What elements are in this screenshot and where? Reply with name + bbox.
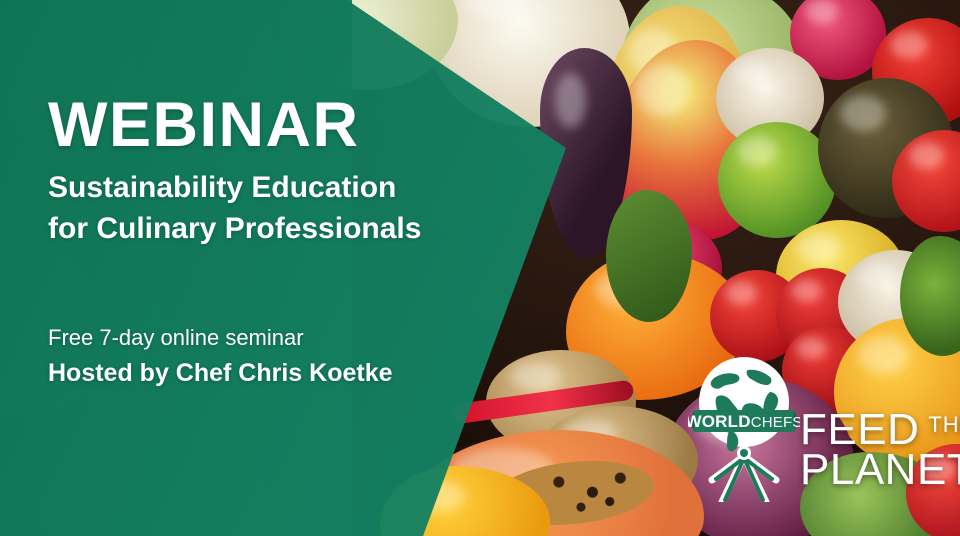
subtitle-line-1: Sustainability Education bbox=[48, 168, 421, 209]
feed-the-line: FEEDTHE bbox=[800, 410, 960, 450]
subtitle-line-2: for Culinary Professionals bbox=[48, 209, 421, 250]
worldchefs-globe-icon: WORLDCHEFS bbox=[688, 352, 800, 502]
page-title: WEBINAR bbox=[48, 94, 359, 157]
the-word: THE bbox=[928, 412, 960, 437]
subtitle: Sustainability Education for Culinary Pr… bbox=[48, 168, 421, 249]
promo-banner: WEBINAR Sustainability Education for Cul… bbox=[0, 0, 960, 536]
seminar-note: Free 7-day online seminar bbox=[48, 325, 304, 351]
feed-the-planet-wordmark: FEEDTHE PLANET bbox=[800, 410, 960, 491]
planet-word: PLANET bbox=[800, 450, 960, 490]
host-name: Hosted by Chef Chris Koetke bbox=[48, 358, 393, 388]
copy-block: WEBINAR Sustainability Education for Cul… bbox=[48, 0, 478, 536]
feed-the-planet-logo: WORLDCHEFS FEEDTHE PLANET bbox=[688, 352, 950, 512]
svg-text:WORLDCHEFS: WORLDCHEFS bbox=[688, 412, 800, 431]
